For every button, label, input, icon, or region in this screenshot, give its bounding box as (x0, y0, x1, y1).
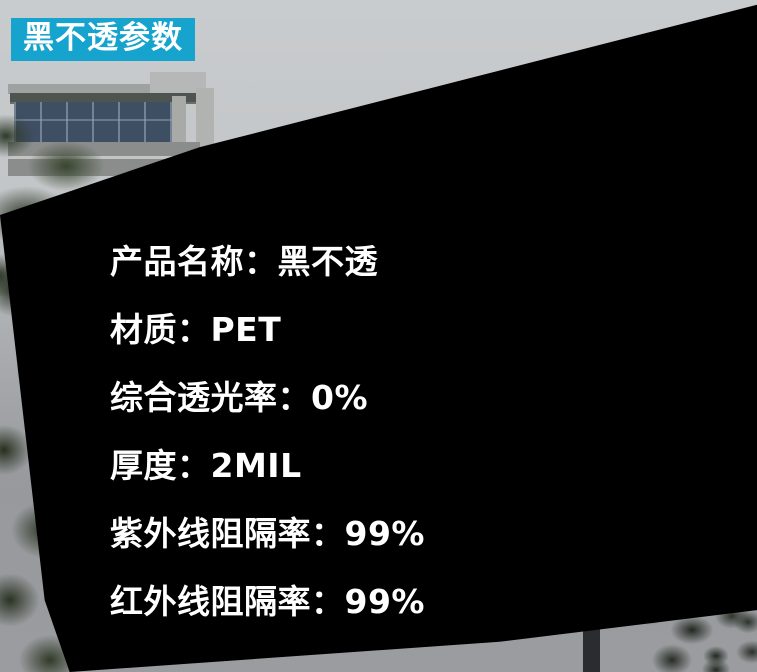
spec-item-product-name: 产品名称：黑不透 (110, 228, 670, 296)
spec-item-light-transmittance: 综合透光率：0% (110, 364, 670, 432)
spec-item-uv-rejection: 紫外线阻隔率：99% (110, 500, 670, 568)
spec-item-thickness: 厚度：2MIL (110, 432, 670, 500)
spec-item-ir-rejection: 红外线阻隔率：99% (110, 568, 670, 636)
spec-list: 产品名称：黑不透 材质：PET 综合透光率：0% 厚度：2MIL 紫外线阻隔率：… (110, 228, 670, 636)
spec-item-material: 材质：PET (110, 296, 670, 364)
product-spec-graphic: 产品名称：黑不透 材质：PET 综合透光率：0% 厚度：2MIL 紫外线阻隔率：… (0, 0, 757, 672)
title-badge: 黑不透参数 (11, 18, 195, 61)
